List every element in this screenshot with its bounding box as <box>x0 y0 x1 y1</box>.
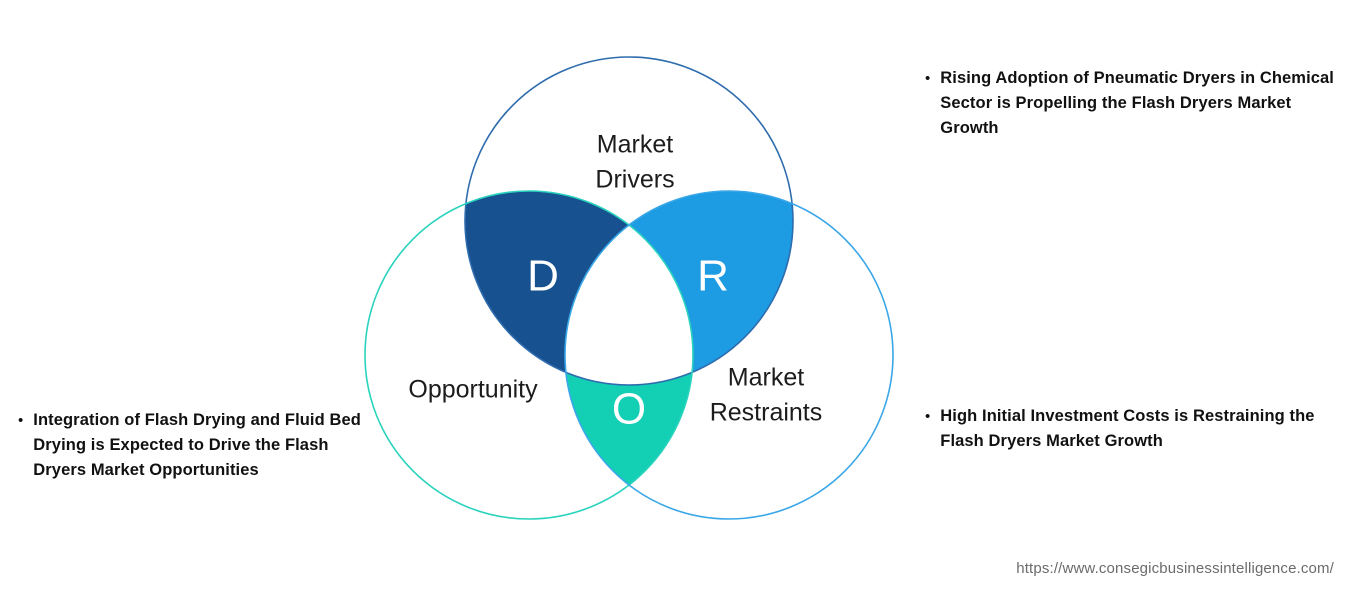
circle-label-drivers-line2: Drivers <box>595 166 674 194</box>
circle-label-restraints-line2: Restraints <box>710 399 823 427</box>
bullet-icon: • <box>18 408 23 433</box>
bullet-icon: • <box>925 404 930 429</box>
circle-label-restraints-line1: Market <box>728 364 804 392</box>
callout-text-restraints: High Initial Investment Costs is Restrai… <box>940 404 1325 454</box>
callout-text-opportunity: Integration of Flash Drying and Fluid Be… <box>33 408 363 483</box>
intersection-initial-o: O <box>612 385 646 434</box>
callout-market-restraints: • High Initial Investment Costs is Restr… <box>925 404 1325 454</box>
circle-label-opportunity: Opportunity <box>408 376 538 404</box>
callout-opportunity: • Integration of Flash Drying and Fluid … <box>18 408 363 483</box>
bullet-icon: • <box>925 66 930 91</box>
intersection-initial-d: D <box>527 252 559 301</box>
callout-market-drivers: • Rising Adoption of Pneumatic Dryers in… <box>925 66 1335 141</box>
circle-label-drivers-line1: Market <box>597 131 673 159</box>
infographic-canvas: Market Drivers Opportunity Market Restra… <box>0 0 1356 600</box>
source-url[interactable]: https://www.consegicbusinessintelligence… <box>1016 560 1334 577</box>
callout-text-drivers: Rising Adoption of Pneumatic Dryers in C… <box>940 66 1335 141</box>
intersection-initial-r: R <box>697 252 729 301</box>
